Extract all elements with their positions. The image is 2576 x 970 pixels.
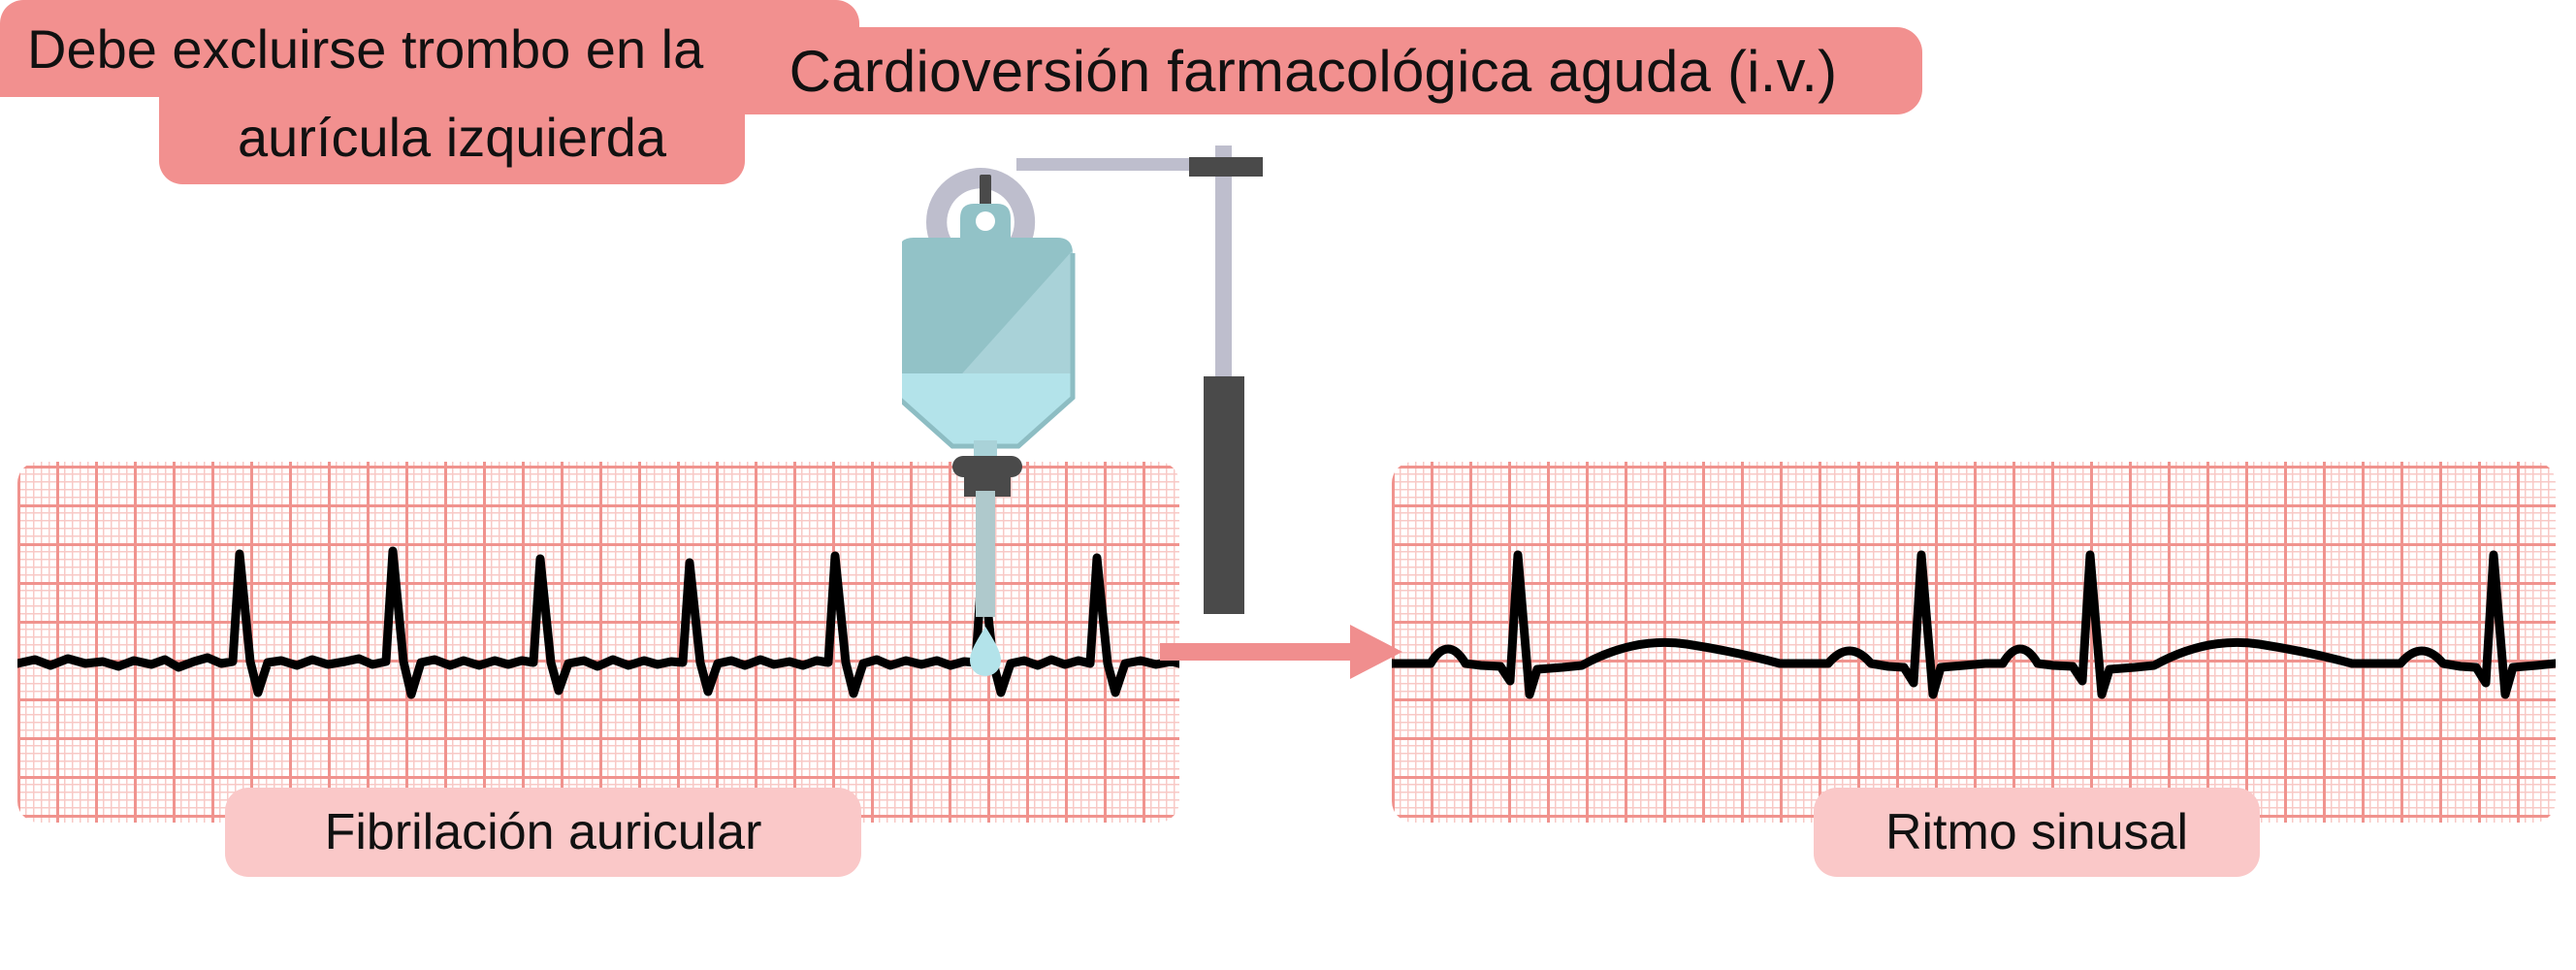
bag-hanger-hole (976, 211, 995, 231)
fluid-drop-icon (970, 627, 1001, 676)
iv-fluid (902, 373, 1073, 446)
page-title-banner: Cardioversión farmacológica aguda (i.v.) (704, 27, 1922, 114)
label-atrial-fibrillation: Fibrilación auricular (225, 788, 861, 877)
label-sinus-rhythm-text: Ritmo sinusal (1885, 803, 2188, 861)
ecg-strip-sinus-rhythm (1392, 462, 2556, 823)
iv-tube (976, 491, 995, 617)
pole-crossbar (1189, 157, 1263, 177)
label-sinus-rhythm: Ritmo sinusal (1814, 788, 2260, 877)
hook-support-arm (1016, 158, 1201, 171)
label-atrial-fibrillation-text: Fibrilación auricular (325, 803, 762, 861)
infographic-canvas: Cardioversión farmacológica aguda (i.v.)… (0, 0, 2576, 970)
sinus-trace-path (1392, 555, 2556, 695)
iv-illustration-svg (902, 136, 1309, 757)
pole-base-block (1204, 376, 1244, 614)
thrombus-warning-line-2: aurícula izquierda (159, 89, 745, 184)
sinus-trace-svg (1392, 462, 2556, 823)
iv-drip-illustration (902, 136, 1309, 757)
thrombus-warning-text-1: Debe excluirse trombo en la (27, 17, 703, 81)
page-title-text: Cardioversión farmacológica aguda (i.v.) (789, 38, 1838, 105)
thrombus-warning-text-2: aurícula izquierda (238, 106, 666, 169)
